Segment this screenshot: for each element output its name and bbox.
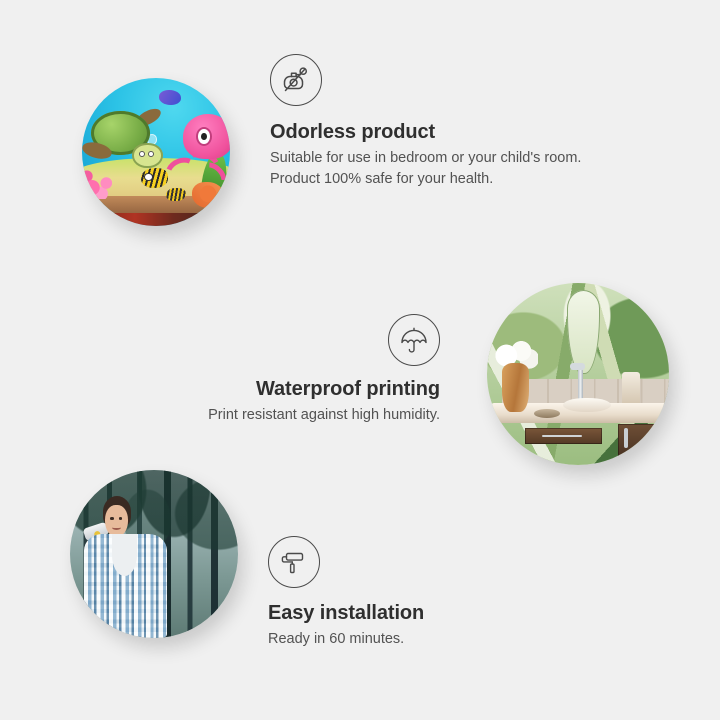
paint-roller-icon xyxy=(268,536,320,588)
gold-vase xyxy=(502,363,529,412)
coral-icon xyxy=(82,161,123,199)
woman-paint-roller-forest-photo xyxy=(70,470,238,638)
turtle-eye xyxy=(148,151,154,157)
ocean-scene xyxy=(82,78,230,226)
feature-easy-installation: Easy installation Ready in 60 minutes. xyxy=(268,536,588,650)
bathroom-tropical-wallpaper-photo xyxy=(487,283,669,465)
woman-eye xyxy=(119,517,122,520)
feature-description: Print resistant against high humidity. xyxy=(100,405,440,426)
vanity-drawer xyxy=(525,428,602,444)
feature-odorless-product: Odorless product Suitable for use in bed… xyxy=(270,54,610,189)
yellow-striped-fish-icon xyxy=(141,168,168,187)
woman-smile xyxy=(112,525,121,530)
feature-waterproof-printing: Waterproof printing Print resistant agai… xyxy=(100,314,440,426)
feature-title: Waterproof printing xyxy=(100,377,440,402)
no-odor-spray-bottle-icon xyxy=(270,54,322,106)
wooden-vanity-cabinet xyxy=(509,421,669,465)
turtle-eye xyxy=(139,151,145,157)
woman-face xyxy=(105,505,128,537)
woman-eye xyxy=(110,517,113,520)
vanity-door xyxy=(618,424,660,456)
feature-description: Ready in 60 minutes. xyxy=(268,629,588,650)
woman-figure xyxy=(80,494,174,638)
feature-title: Easy installation xyxy=(268,601,588,626)
sink-basin xyxy=(563,398,610,413)
soap-dish xyxy=(534,409,559,418)
room-photo-strip xyxy=(82,213,230,226)
plaid-shirt xyxy=(84,534,167,638)
umbrella-icon xyxy=(388,314,440,366)
underwater-cartoon-mural-photo xyxy=(82,78,230,226)
promo-feature-board: Odorless product Suitable for use in bed… xyxy=(0,0,720,720)
blue-fish-icon xyxy=(159,90,181,105)
feature-description: Suitable for use in bedroom or your chil… xyxy=(270,148,610,189)
shirt-collar xyxy=(112,534,137,576)
feature-title: Odorless product xyxy=(270,120,610,145)
bathroom-scene xyxy=(487,283,669,465)
forest-scene xyxy=(70,470,238,638)
